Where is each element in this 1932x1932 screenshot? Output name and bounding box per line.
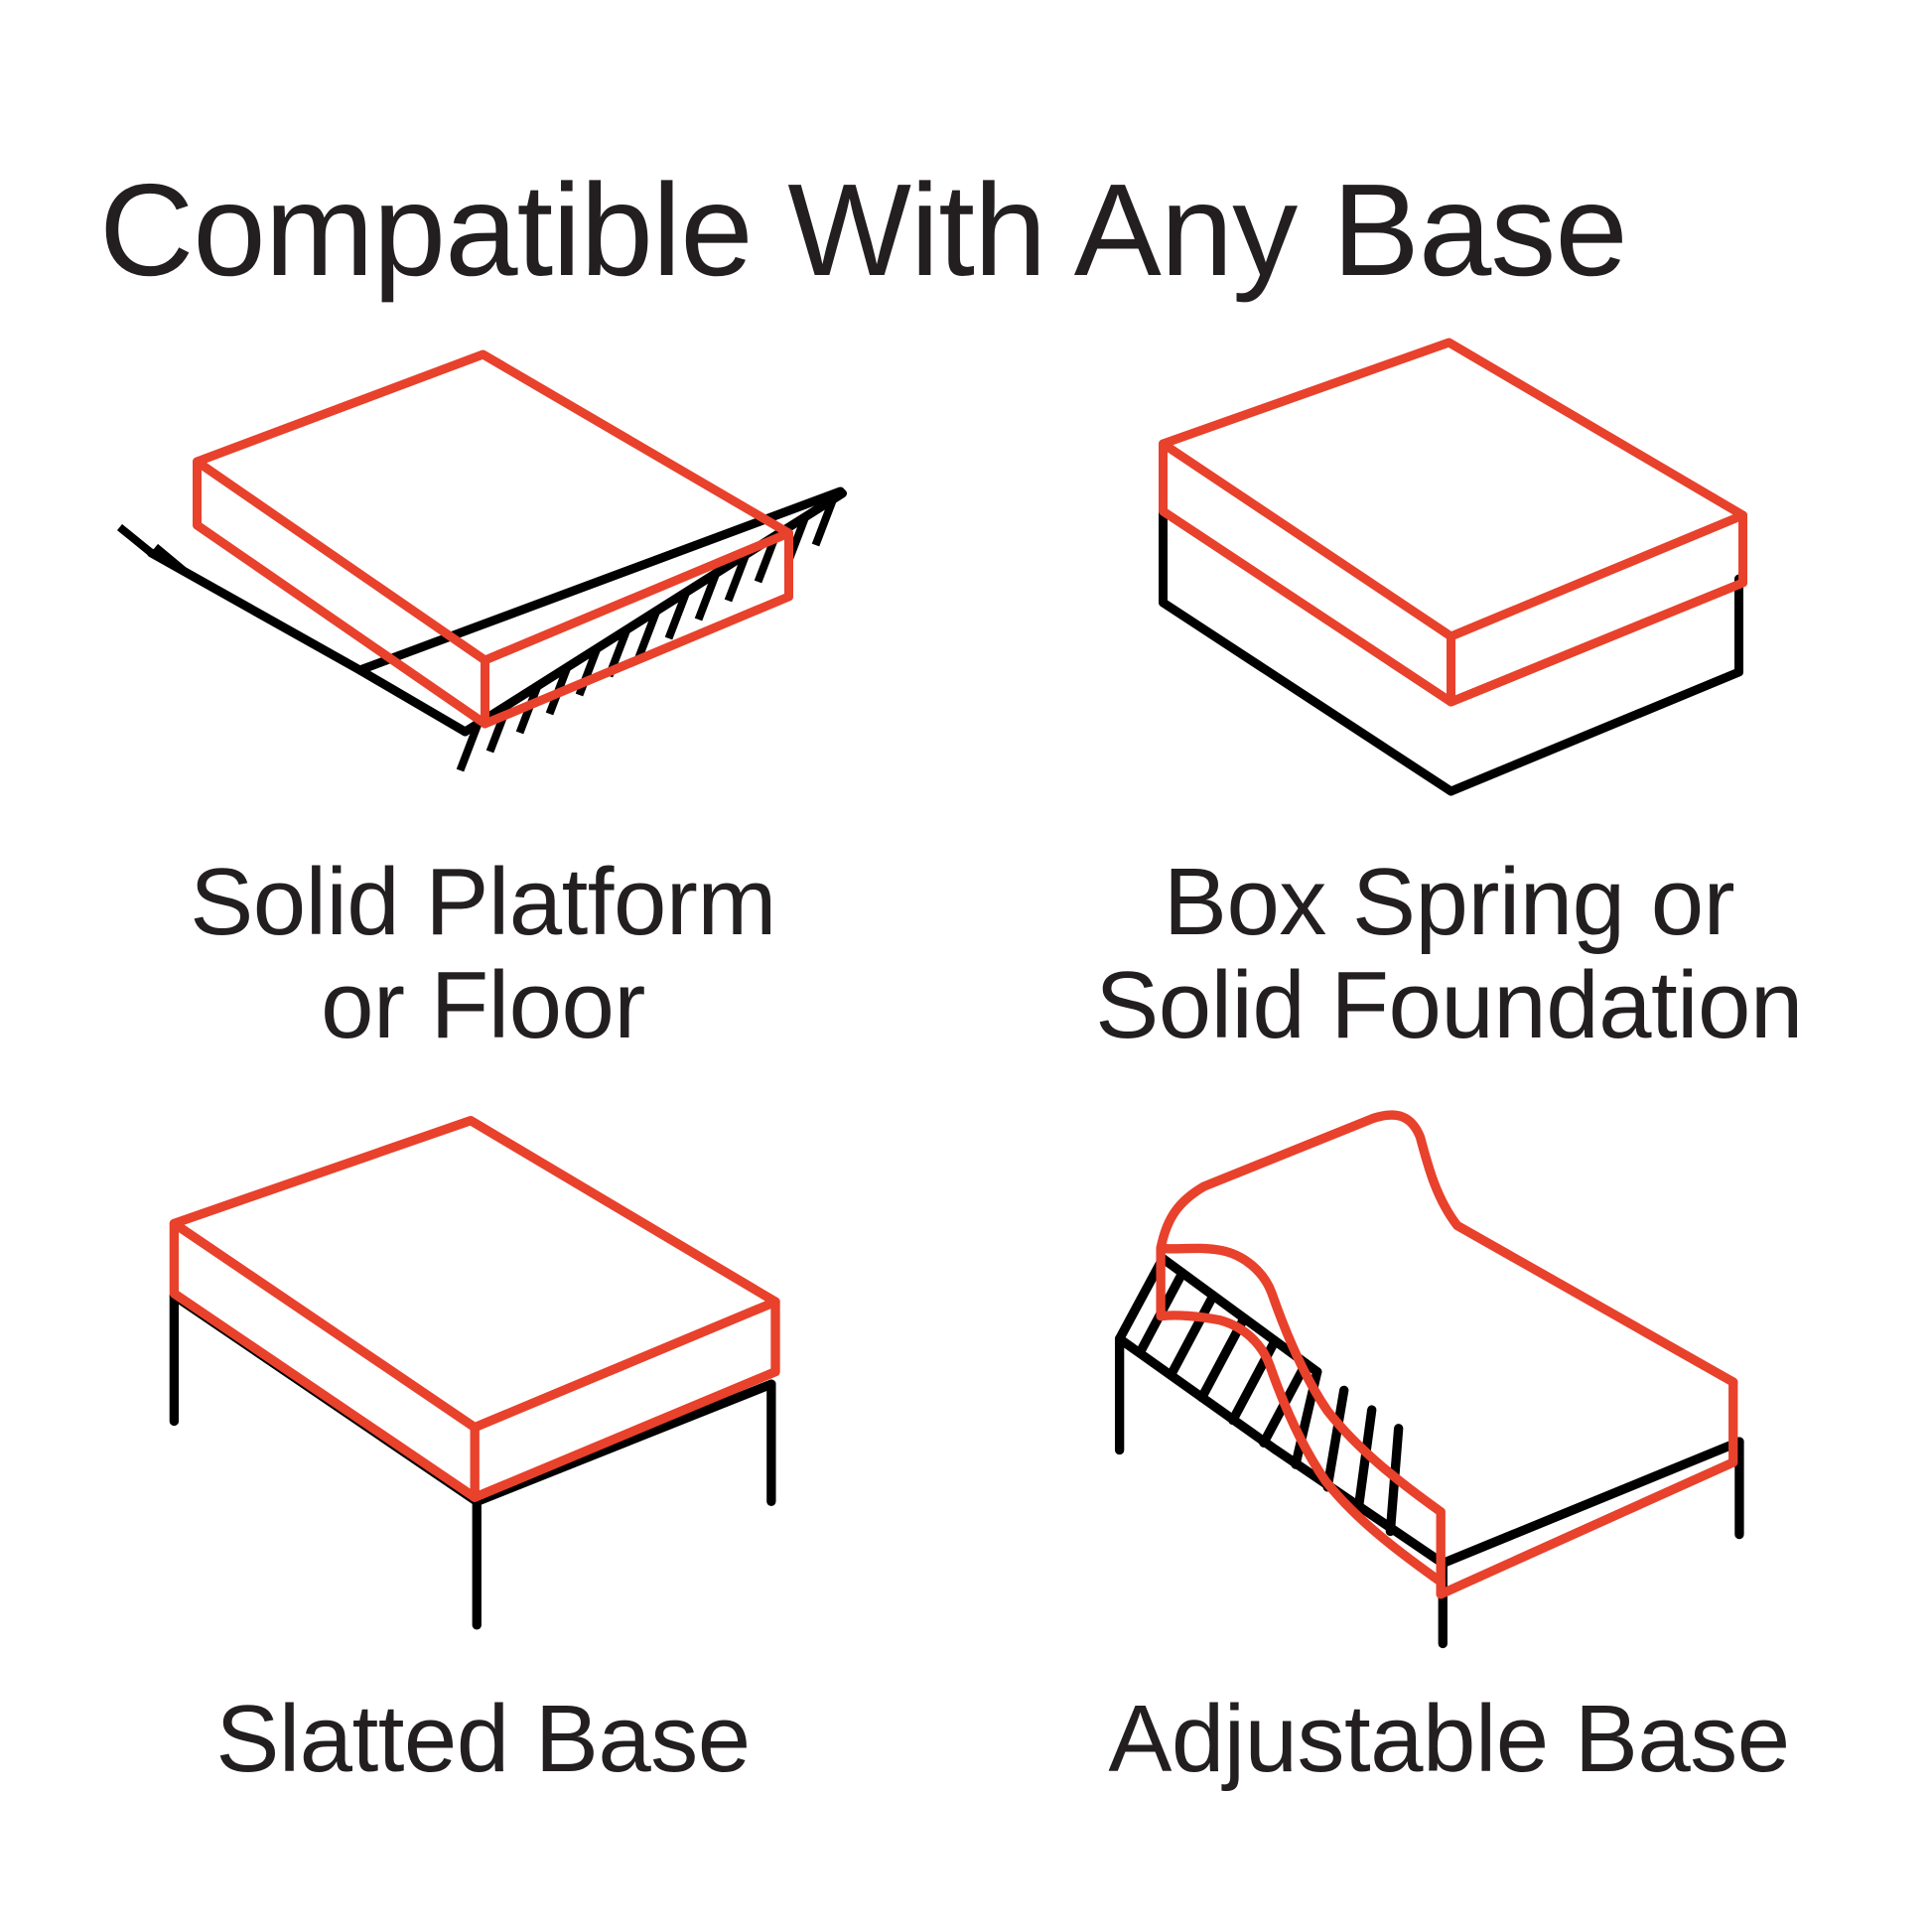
illustration-mattress-on-adjustable-frame: [966, 1102, 1932, 1658]
illustration-mattress-on-hatched-floor: [0, 333, 966, 829]
mattress-icon: [174, 1121, 775, 1498]
caption-line-1: Slatted Base: [215, 1688, 750, 1791]
caption-line-2: Solid Foundation: [1095, 954, 1803, 1057]
caption-line-2: or Floor: [190, 954, 776, 1057]
caption-line-1: Box Spring or: [1095, 851, 1803, 954]
illustration-mattress-on-slatted-frame: [0, 1102, 966, 1658]
caption-line-1: Adjustable Base: [1108, 1688, 1789, 1791]
illustration-mattress-on-box-spring: [966, 333, 1932, 829]
mattress-icon: [1161, 1115, 1733, 1594]
base-card-box-spring: Box Spring or Solid Foundation: [966, 298, 1932, 1082]
base-card-caption: Solid Platform or Floor: [190, 851, 776, 1056]
base-card-caption: Box Spring or Solid Foundation: [1095, 851, 1803, 1056]
base-card-solid-platform: Solid Platform or Floor: [0, 298, 966, 1082]
base-card-caption: Adjustable Base: [1108, 1688, 1789, 1791]
base-card-slatted: Slatted Base: [0, 1082, 966, 1906]
base-card-adjustable: Adjustable Base: [966, 1082, 1932, 1906]
caption-line-1: Solid Platform: [190, 851, 776, 954]
base-card-caption: Slatted Base: [215, 1688, 750, 1791]
mattress-icon: [1164, 343, 1743, 702]
infographic-root: Compatible With Any Base: [0, 0, 1932, 1932]
page-title: Compatible With Any Base: [99, 165, 1866, 296]
base-type-grid: Solid Platform or Floor: [0, 298, 1932, 1906]
hatched-floor-icon: [120, 491, 843, 770]
